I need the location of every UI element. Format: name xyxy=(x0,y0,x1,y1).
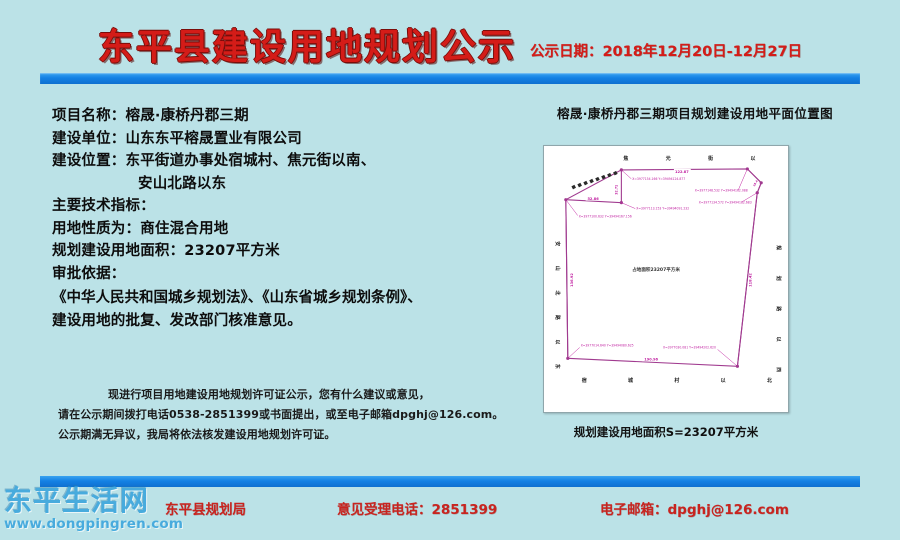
info-approval-header: 审批依据： xyxy=(52,263,482,286)
info-land-nature: 用地性质为：商住混合用地 xyxy=(52,218,482,241)
edge-label-notch-v: 32.71 xyxy=(614,185,618,195)
edge-label-north: 122.87 xyxy=(675,170,689,174)
watermark-url: www.dongpingren.com xyxy=(4,516,189,532)
vertex-label-3: X=3977134.572 Y=39494182.683 xyxy=(699,201,752,205)
site-watermark: 东平生活网 www.dongpingren.com xyxy=(4,486,189,538)
vertex-label-1: X=3977154.166 Y=39494124.877 xyxy=(632,177,685,181)
title-row: 东平县建设用地规划公示 公示日期：2018年12月20日-12月27日 xyxy=(0,14,900,66)
approval-basis-block: 《中华人民共和国城乡规划法》、《山东省城乡规划条例》、 建设用地的批复、发改部门… xyxy=(52,287,482,332)
map-caption: 规划建设用地面积S=23207平方米 xyxy=(543,424,789,440)
map-area-label: 占地面积23207平方米 xyxy=(632,266,680,273)
info-location-line1: 建设位置：东平街道办事处宿城村、焦元街以南、 xyxy=(52,150,482,173)
info-build-unit: 建设单位：山东东平榕晟置业有限公司 xyxy=(52,128,482,151)
map-title: 榕晟·康桥丹郡三期项目规划建设用地平面位置图 xyxy=(500,103,890,122)
info-project-name: 项目名称：榕晟·康桥丹郡三期 xyxy=(52,105,482,128)
vertex-label-4: X=3977113.153 Y=39494091.232 xyxy=(636,207,689,211)
street-east: 规 划 路 以 西 xyxy=(775,245,782,384)
info-location-line2: 安山北路以东 xyxy=(52,173,482,196)
notice-line-3: 公示期满无异议，我局将依法核发建设用地规划许可证。 xyxy=(58,425,478,445)
street-north: 焦 元 街 以 南 xyxy=(622,155,788,162)
publish-date: 公示日期：2018年12月20日-12月27日 xyxy=(530,40,802,61)
watermark-brand: 东平生活网 xyxy=(4,486,189,516)
project-info-block: 项目名称：榕晟·康桥丹郡三期 建设单位：山东东平榕晟置业有限公司 建设位置：东平… xyxy=(52,105,482,332)
vertex-label-6: X=3977014.640 Y=39494080.625 xyxy=(581,343,634,347)
public-notice-paragraph: 现进行项目用地建设用地规划许可证公示，您有什么建议或意见， 请在公示期间拨打电话… xyxy=(58,385,478,445)
info-approval-line1: 《中华人民共和国城乡规划法》、《山东省城乡规划条例》、 xyxy=(52,287,482,310)
site-plan-svg: X=3977154.166 Y=39494124.877 X=3977148.5… xyxy=(544,146,788,412)
edge-label-notch: 52.86 xyxy=(587,197,599,201)
vertex-label-5: X=3977100.632 Y=39494167.156 xyxy=(579,215,632,219)
site-plan-map: X=3977154.166 Y=39494124.877 X=3977148.5… xyxy=(543,145,789,413)
header-divider xyxy=(40,73,860,84)
page-title: 东平县建设用地规划公示 xyxy=(98,30,516,66)
street-south: 宿 城 村 以 北 xyxy=(582,377,788,384)
info-land-area: 规划建设用地面积：23207平方米 xyxy=(52,240,482,263)
edge-label-south: 190.96 xyxy=(644,358,658,362)
notice-line-2: 请在公示期间拨打电话0538-2851399或书面提出，或至电子邮箱dpghj@… xyxy=(58,405,478,425)
footer-phone: 意见受理电话：2851399 xyxy=(337,498,497,518)
info-indicators-header: 主要技术指标： xyxy=(52,195,482,218)
edge-label-east: 118.42 xyxy=(748,273,752,287)
info-approval-line2: 建设用地的批复、发改部门核准意见。 xyxy=(52,310,482,333)
footer-email: 电子邮箱：dpghj@126.com xyxy=(600,498,789,518)
vertex-label-2: X=3977148.532 Y=39494162.088 xyxy=(695,189,748,193)
street-west: 安 山 北 路 以 东 xyxy=(554,241,561,377)
notice-line-1: 现进行项目用地建设用地规划许可证公示，您有什么建议或意见， xyxy=(58,385,478,405)
planning-notice-poster: 东平县建设用地规划公示 公示日期：2018年12月20日-12月27日 项目名称… xyxy=(0,0,900,540)
poster-header: 东平县建设用地规划公示 公示日期：2018年12月20日-12月27日 xyxy=(0,0,900,90)
edge-label-west: 136.92 xyxy=(570,273,574,287)
vertex-label-7: X=3977030.081 Y=39494202.620 xyxy=(663,345,716,349)
